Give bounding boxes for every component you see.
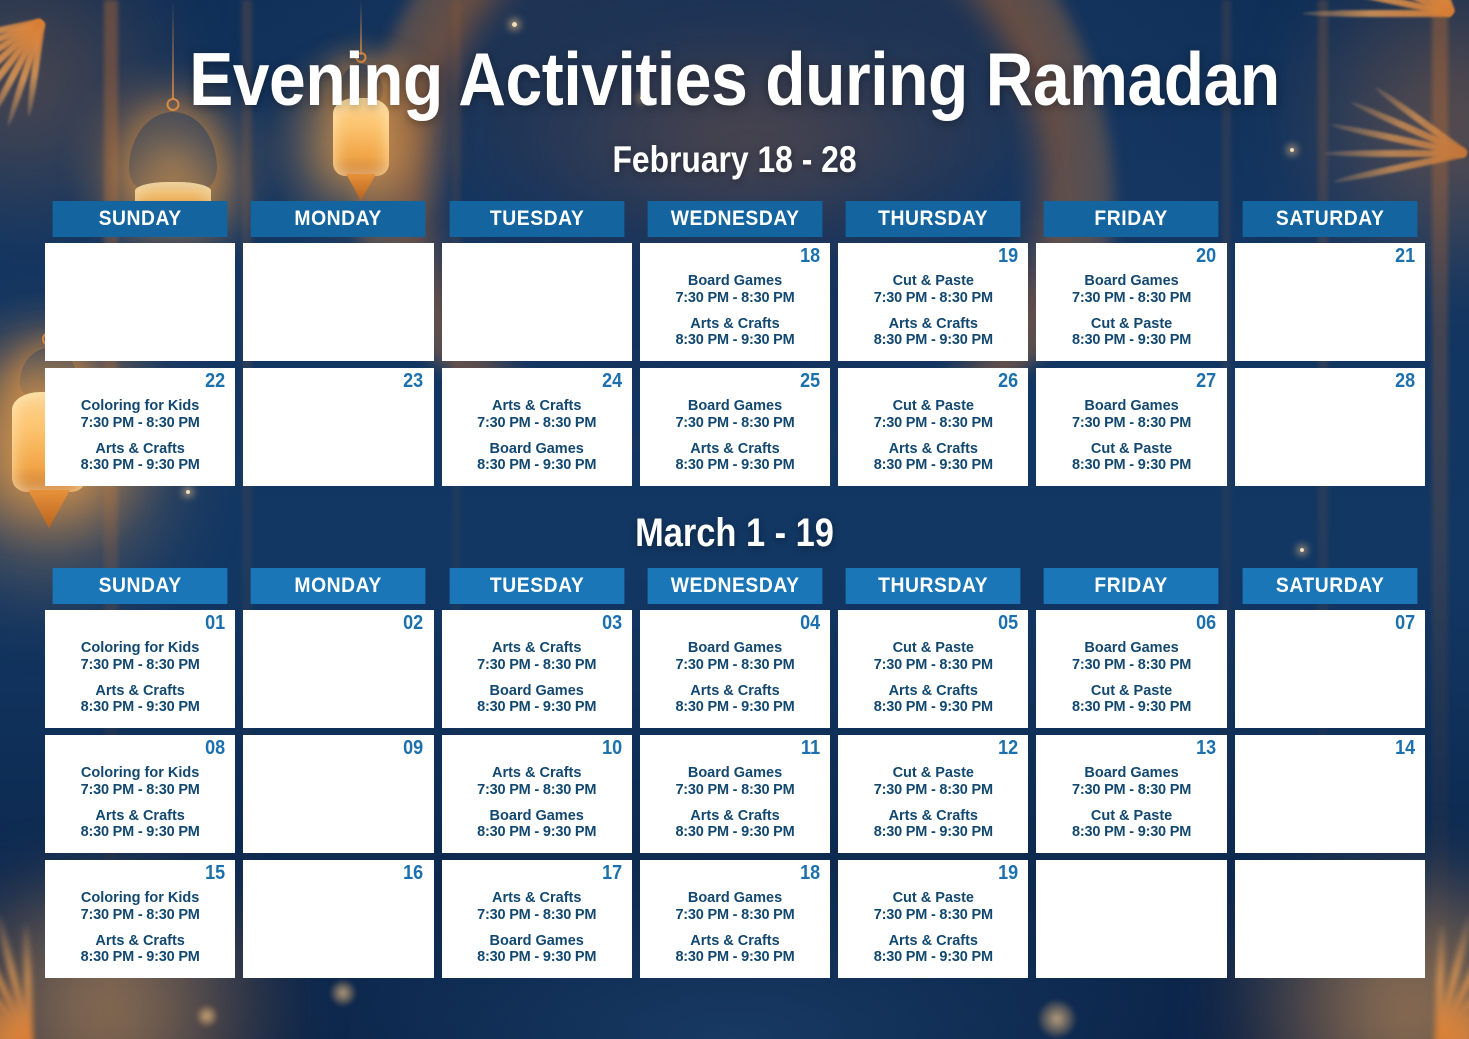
event-time: 8:30 PM - 9:30 PM <box>648 457 822 474</box>
event-time: 7:30 PM - 8:30 PM <box>1044 415 1218 432</box>
event-name: Board Games <box>450 683 624 700</box>
day-number: 20 <box>1197 246 1217 266</box>
weekday-header-row-february: SUNDAYMONDAYTUESDAYWEDNESDAYTHURSDAYFRID… <box>45 201 1425 237</box>
event-time: 7:30 PM - 8:30 PM <box>53 657 227 674</box>
event-time: 7:30 PM - 8:30 PM <box>846 907 1020 924</box>
event-name: Arts & Crafts <box>846 933 1020 950</box>
calendar-day-cell[interactable]: 07 <box>1235 610 1425 728</box>
event-entry[interactable]: Board Games8:30 PM - 9:30 PM <box>450 933 624 967</box>
day-events: Board Games7:30 PM - 8:30 PMCut & Paste8… <box>1044 273 1218 349</box>
calendar-day-cell[interactable]: 19Cut & Paste7:30 PM - 8:30 PMArts & Cra… <box>838 860 1028 978</box>
event-name: Arts & Crafts <box>648 316 822 333</box>
day-events: Coloring for Kids7:30 PM - 8:30 PMArts &… <box>53 398 227 474</box>
calendar-week-row: 18Board Games7:30 PM - 8:30 PMArts & Cra… <box>45 243 1425 361</box>
day-events: Board Games7:30 PM - 8:30 PMCut & Paste8… <box>1044 398 1218 474</box>
calendar-day-cell[interactable]: 18Board Games7:30 PM - 8:30 PMArts & Cra… <box>640 860 830 978</box>
event-entry[interactable]: Board Games7:30 PM - 8:30 PM <box>648 273 822 307</box>
event-entry[interactable]: Arts & Crafts8:30 PM - 9:30 PM <box>648 683 822 717</box>
day-events: Cut & Paste7:30 PM - 8:30 PMArts & Craft… <box>846 398 1020 474</box>
event-entry[interactable]: Board Games7:30 PM - 8:30 PM <box>1044 273 1218 307</box>
calendar-day-cell[interactable] <box>45 243 235 361</box>
event-time: 8:30 PM - 9:30 PM <box>450 699 624 716</box>
event-entry[interactable]: Board Games7:30 PM - 8:30 PM <box>1044 640 1218 674</box>
event-time: 7:30 PM - 8:30 PM <box>648 907 822 924</box>
day-number: 21 <box>1395 246 1415 266</box>
event-time: 8:30 PM - 9:30 PM <box>846 332 1020 349</box>
calendar-day-cell[interactable]: 26Cut & Paste7:30 PM - 8:30 PMArts & Cra… <box>838 368 1028 486</box>
event-name: Arts & Crafts <box>648 808 822 825</box>
event-entry[interactable]: Cut & Paste8:30 PM - 9:30 PM <box>1044 441 1218 475</box>
weekday-header-wednesday: WEDNESDAY <box>647 568 822 604</box>
event-time: 7:30 PM - 8:30 PM <box>1044 290 1218 307</box>
event-name: Coloring for Kids <box>53 640 227 657</box>
event-entry[interactable]: Cut & Paste7:30 PM - 8:30 PM <box>846 890 1020 924</box>
weekday-header-tuesday: TUESDAY <box>449 201 624 237</box>
event-name: Arts & Crafts <box>53 808 227 825</box>
event-name: Arts & Crafts <box>648 441 822 458</box>
event-time: 7:30 PM - 8:30 PM <box>53 782 227 799</box>
event-time: 8:30 PM - 9:30 PM <box>1044 332 1218 349</box>
page-title: Evening Activities during Ramadan <box>88 42 1381 117</box>
calendar-page: Evening Activities during Ramadan Februa… <box>0 0 1469 1039</box>
event-entry[interactable]: Cut & Paste8:30 PM - 9:30 PM <box>1044 683 1218 717</box>
calendar-day-cell[interactable]: 18Board Games7:30 PM - 8:30 PMArts & Cra… <box>640 243 830 361</box>
day-number: 03 <box>602 613 622 633</box>
event-time: 8:30 PM - 9:30 PM <box>648 949 822 966</box>
calendar-day-cell[interactable]: 20Board Games7:30 PM - 8:30 PMCut & Past… <box>1036 243 1226 361</box>
day-number: 06 <box>1197 613 1217 633</box>
day-events: Board Games7:30 PM - 8:30 PMArts & Craft… <box>648 273 822 349</box>
event-time: 7:30 PM - 8:30 PM <box>648 782 822 799</box>
weekday-header-friday: FRIDAY <box>1044 201 1219 237</box>
calendar-day-cell[interactable]: 25Board Games7:30 PM - 8:30 PMArts & Cra… <box>640 368 830 486</box>
day-number: 19 <box>998 863 1018 883</box>
calendar-day-cell[interactable]: 03Arts & Crafts7:30 PM - 8:30 PMBoard Ga… <box>442 610 632 728</box>
event-entry[interactable]: Arts & Crafts8:30 PM - 9:30 PM <box>53 683 227 717</box>
event-entry[interactable]: Board Games8:30 PM - 9:30 PM <box>450 441 624 475</box>
event-entry[interactable]: Arts & Crafts8:30 PM - 9:30 PM <box>648 316 822 350</box>
event-name: Arts & Crafts <box>450 640 624 657</box>
event-entry[interactable]: Arts & Crafts8:30 PM - 9:30 PM <box>53 808 227 842</box>
event-name: Cut & Paste <box>846 640 1020 657</box>
weekday-header-saturday: SATURDAY <box>1242 568 1417 604</box>
event-name: Board Games <box>648 890 822 907</box>
event-time: 8:30 PM - 9:30 PM <box>53 699 227 716</box>
event-time: 8:30 PM - 9:30 PM <box>648 699 822 716</box>
calendar-day-cell[interactable]: 05Cut & Paste7:30 PM - 8:30 PMArts & Cra… <box>838 610 1028 728</box>
event-entry[interactable]: Board Games7:30 PM - 8:30 PM <box>648 890 822 924</box>
day-events: Cut & Paste7:30 PM - 8:30 PMArts & Craft… <box>846 765 1020 841</box>
day-events: Board Games7:30 PM - 8:30 PMArts & Craft… <box>648 765 822 841</box>
calendar-day-cell[interactable]: 15Coloring for Kids7:30 PM - 8:30 PMArts… <box>45 860 235 978</box>
calendar-day-cell[interactable]: 13Board Games7:30 PM - 8:30 PMCut & Past… <box>1036 735 1226 853</box>
calendar-day-cell[interactable]: 16 <box>243 860 433 978</box>
day-number: 26 <box>998 371 1018 391</box>
day-number: 17 <box>602 863 622 883</box>
calendar-day-cell[interactable]: 22Coloring for Kids7:30 PM - 8:30 PMArts… <box>45 368 235 486</box>
day-number: 24 <box>602 371 622 391</box>
event-time: 8:30 PM - 9:30 PM <box>450 457 624 474</box>
day-number: 13 <box>1197 738 1217 758</box>
day-events: Board Games7:30 PM - 8:30 PMCut & Paste8… <box>1044 765 1218 841</box>
event-name: Cut & Paste <box>1044 441 1218 458</box>
event-name: Cut & Paste <box>1044 316 1218 333</box>
event-entry[interactable]: Arts & Crafts8:30 PM - 9:30 PM <box>53 933 227 967</box>
day-number: 15 <box>205 863 225 883</box>
day-number: 14 <box>1395 738 1415 758</box>
calendar-day-cell[interactable]: 06Board Games7:30 PM - 8:30 PMCut & Past… <box>1036 610 1226 728</box>
calendar-day-cell[interactable]: 08Coloring for Kids7:30 PM - 8:30 PMArts… <box>45 735 235 853</box>
day-number: 25 <box>800 371 820 391</box>
calendar-day-cell[interactable]: 09 <box>243 735 433 853</box>
event-name: Arts & Crafts <box>648 933 822 950</box>
day-events: Board Games7:30 PM - 8:30 PMArts & Craft… <box>648 890 822 966</box>
event-time: 8:30 PM - 9:30 PM <box>846 699 1020 716</box>
calendar-day-cell[interactable] <box>442 243 632 361</box>
weekday-header-tuesday: TUESDAY <box>449 568 624 604</box>
event-entry[interactable]: Cut & Paste7:30 PM - 8:30 PM <box>846 640 1020 674</box>
event-time: 7:30 PM - 8:30 PM <box>1044 657 1218 674</box>
event-entry[interactable]: Arts & Crafts8:30 PM - 9:30 PM <box>648 933 822 967</box>
event-entry[interactable]: Coloring for Kids7:30 PM - 8:30 PM <box>53 640 227 674</box>
day-events: Arts & Crafts7:30 PM - 8:30 PMBoard Game… <box>450 398 624 474</box>
day-events: Coloring for Kids7:30 PM - 8:30 PMArts &… <box>53 765 227 841</box>
event-name: Board Games <box>1044 765 1218 782</box>
event-time: 7:30 PM - 8:30 PM <box>1044 782 1218 799</box>
day-events: Cut & Paste7:30 PM - 8:30 PMArts & Craft… <box>846 273 1020 349</box>
event-time: 7:30 PM - 8:30 PM <box>53 907 227 924</box>
event-time: 7:30 PM - 8:30 PM <box>648 415 822 432</box>
event-name: Arts & Crafts <box>450 398 624 415</box>
event-time: 8:30 PM - 9:30 PM <box>53 949 227 966</box>
day-events: Cut & Paste7:30 PM - 8:30 PMArts & Craft… <box>846 640 1020 716</box>
event-name: Coloring for Kids <box>53 765 227 782</box>
weekday-header-thursday: THURSDAY <box>846 201 1021 237</box>
event-name: Board Games <box>648 640 822 657</box>
calendar-week-row: 01Coloring for Kids7:30 PM - 8:30 PMArts… <box>45 610 1425 728</box>
event-entry[interactable]: Cut & Paste7:30 PM - 8:30 PM <box>846 273 1020 307</box>
event-name: Arts & Crafts <box>53 441 227 458</box>
day-number: 09 <box>403 738 423 758</box>
event-name: Arts & Crafts <box>450 890 624 907</box>
calendar-day-cell[interactable]: 10Arts & Crafts7:30 PM - 8:30 PMBoard Ga… <box>442 735 632 853</box>
day-events: Cut & Paste7:30 PM - 8:30 PMArts & Craft… <box>846 890 1020 966</box>
event-time: 7:30 PM - 8:30 PM <box>846 415 1020 432</box>
calendar-day-cell[interactable]: 28 <box>1235 368 1425 486</box>
day-number: 18 <box>800 246 820 266</box>
calendar-day-cell[interactable]: 23 <box>243 368 433 486</box>
calendar-week-row: 22Coloring for Kids7:30 PM - 8:30 PMArts… <box>45 368 1425 486</box>
event-name: Cut & Paste <box>846 398 1020 415</box>
event-name: Arts & Crafts <box>53 683 227 700</box>
event-name: Arts & Crafts <box>846 316 1020 333</box>
event-entry[interactable]: Arts & Crafts8:30 PM - 9:30 PM <box>846 316 1020 350</box>
event-name: Arts & Crafts <box>846 808 1020 825</box>
event-time: 7:30 PM - 8:30 PM <box>450 907 624 924</box>
calendar-week-row: 08Coloring for Kids7:30 PM - 8:30 PMArts… <box>45 735 1425 853</box>
event-entry[interactable]: Arts & Crafts8:30 PM - 9:30 PM <box>53 441 227 475</box>
event-entry[interactable]: Arts & Crafts8:30 PM - 9:30 PM <box>648 441 822 475</box>
event-name: Board Games <box>1044 273 1218 290</box>
day-number: 22 <box>205 371 225 391</box>
event-time: 7:30 PM - 8:30 PM <box>846 782 1020 799</box>
event-name: Arts & Crafts <box>53 933 227 950</box>
event-entry[interactable]: Cut & Paste7:30 PM - 8:30 PM <box>846 765 1020 799</box>
event-time: 7:30 PM - 8:30 PM <box>450 782 624 799</box>
event-name: Board Games <box>648 273 822 290</box>
event-time: 8:30 PM - 9:30 PM <box>648 332 822 349</box>
calendar-day-cell[interactable]: 12Cut & Paste7:30 PM - 8:30 PMArts & Cra… <box>838 735 1028 853</box>
day-number: 01 <box>205 613 225 633</box>
event-entry[interactable]: Cut & Paste7:30 PM - 8:30 PM <box>846 398 1020 432</box>
calendar-day-cell[interactable]: 17Arts & Crafts7:30 PM - 8:30 PMBoard Ga… <box>442 860 632 978</box>
day-events: Board Games7:30 PM - 8:30 PMArts & Craft… <box>648 640 822 716</box>
day-number: 16 <box>403 863 423 883</box>
event-name: Cut & Paste <box>1044 683 1218 700</box>
event-time: 8:30 PM - 9:30 PM <box>1044 824 1218 841</box>
day-events: Arts & Crafts7:30 PM - 8:30 PMBoard Game… <box>450 765 624 841</box>
event-entry[interactable]: Board Games7:30 PM - 8:30 PM <box>648 765 822 799</box>
event-entry[interactable]: Arts & Crafts8:30 PM - 9:30 PM <box>648 808 822 842</box>
event-time: 8:30 PM - 9:30 PM <box>53 824 227 841</box>
event-entry[interactable]: Arts & Crafts7:30 PM - 8:30 PM <box>450 890 624 924</box>
event-name: Board Games <box>648 398 822 415</box>
day-number: 18 <box>800 863 820 883</box>
event-time: 7:30 PM - 8:30 PM <box>846 657 1020 674</box>
day-number: 23 <box>403 371 423 391</box>
event-entry[interactable]: Coloring for Kids7:30 PM - 8:30 PM <box>53 398 227 432</box>
event-entry[interactable]: Coloring for Kids7:30 PM - 8:30 PM <box>53 890 227 924</box>
day-events: Board Games7:30 PM - 8:30 PMArts & Craft… <box>648 398 822 474</box>
calendar-day-cell[interactable] <box>1235 860 1425 978</box>
event-name: Board Games <box>1044 640 1218 657</box>
day-number: 10 <box>602 738 622 758</box>
event-name: Board Games <box>450 441 624 458</box>
event-time: 8:30 PM - 9:30 PM <box>846 824 1020 841</box>
weekday-header-row-march: SUNDAYMONDAYTUESDAYWEDNESDAYTHURSDAYFRID… <box>45 568 1425 604</box>
event-time: 8:30 PM - 9:30 PM <box>1044 457 1218 474</box>
event-name: Arts & Crafts <box>450 765 624 782</box>
day-events: Arts & Crafts7:30 PM - 8:30 PMBoard Game… <box>450 640 624 716</box>
day-number: 08 <box>205 738 225 758</box>
event-time: 8:30 PM - 9:30 PM <box>648 824 822 841</box>
event-name: Board Games <box>1044 398 1218 415</box>
event-entry[interactable]: Board Games8:30 PM - 9:30 PM <box>450 808 624 842</box>
event-entry[interactable]: Board Games7:30 PM - 8:30 PM <box>648 398 822 432</box>
calendar-day-cell[interactable]: 19Cut & Paste7:30 PM - 8:30 PMArts & Cra… <box>838 243 1028 361</box>
event-name: Arts & Crafts <box>846 683 1020 700</box>
event-time: 7:30 PM - 8:30 PM <box>53 415 227 432</box>
day-number: 19 <box>998 246 1018 266</box>
calendar-week-row: 15Coloring for Kids7:30 PM - 8:30 PMArts… <box>45 860 1425 978</box>
event-entry[interactable]: Board Games8:30 PM - 9:30 PM <box>450 683 624 717</box>
event-time: 8:30 PM - 9:30 PM <box>450 949 624 966</box>
day-number: 05 <box>998 613 1018 633</box>
event-entry[interactable]: Coloring for Kids7:30 PM - 8:30 PM <box>53 765 227 799</box>
calendar-day-cell[interactable]: 21 <box>1235 243 1425 361</box>
event-entry[interactable]: Arts & Crafts8:30 PM - 9:30 PM <box>846 933 1020 967</box>
event-name: Arts & Crafts <box>648 683 822 700</box>
event-time: 7:30 PM - 8:30 PM <box>648 657 822 674</box>
calendar-day-cell[interactable]: 11Board Games7:30 PM - 8:30 PMArts & Cra… <box>640 735 830 853</box>
event-entry[interactable]: Arts & Crafts8:30 PM - 9:30 PM <box>846 441 1020 475</box>
event-name: Cut & Paste <box>1044 808 1218 825</box>
day-events: Board Games7:30 PM - 8:30 PMCut & Paste8… <box>1044 640 1218 716</box>
weekday-header-sunday: SUNDAY <box>53 201 228 237</box>
weekday-header-monday: MONDAY <box>251 568 426 604</box>
weekday-header-wednesday: WEDNESDAY <box>647 201 822 237</box>
calendar-day-cell[interactable] <box>1036 860 1226 978</box>
calendar-day-cell[interactable]: 27Board Games7:30 PM - 8:30 PMCut & Past… <box>1036 368 1226 486</box>
calendar-day-cell[interactable]: 14 <box>1235 735 1425 853</box>
event-entry[interactable]: Board Games7:30 PM - 8:30 PM <box>648 640 822 674</box>
weekday-header-monday: MONDAY <box>251 201 426 237</box>
event-time: 7:30 PM - 8:30 PM <box>450 415 624 432</box>
event-entry[interactable]: Board Games7:30 PM - 8:30 PM <box>1044 398 1218 432</box>
event-entry[interactable]: Board Games7:30 PM - 8:30 PM <box>1044 765 1218 799</box>
event-entry[interactable]: Arts & Crafts7:30 PM - 8:30 PM <box>450 640 624 674</box>
event-name: Board Games <box>648 765 822 782</box>
event-name: Board Games <box>450 808 624 825</box>
event-entry[interactable]: Cut & Paste8:30 PM - 9:30 PM <box>1044 316 1218 350</box>
event-name: Arts & Crafts <box>846 441 1020 458</box>
calendar-day-cell[interactable]: 02 <box>243 610 433 728</box>
weekday-header-friday: FRIDAY <box>1044 568 1219 604</box>
day-number: 04 <box>800 613 820 633</box>
day-number: 27 <box>1197 371 1217 391</box>
event-time: 8:30 PM - 9:30 PM <box>450 824 624 841</box>
march-range-subtitle: March 1 - 19 <box>103 511 1366 556</box>
event-time: 8:30 PM - 9:30 PM <box>846 949 1020 966</box>
weekday-header-saturday: SATURDAY <box>1242 201 1417 237</box>
event-time: 7:30 PM - 8:30 PM <box>450 657 624 674</box>
weekday-header-sunday: SUNDAY <box>53 568 228 604</box>
event-name: Board Games <box>450 933 624 950</box>
event-name: Cut & Paste <box>846 273 1020 290</box>
event-name: Cut & Paste <box>846 890 1020 907</box>
day-number: 02 <box>403 613 423 633</box>
event-entry[interactable]: Arts & Crafts7:30 PM - 8:30 PM <box>450 765 624 799</box>
event-time: 7:30 PM - 8:30 PM <box>846 290 1020 307</box>
calendar-day-cell[interactable] <box>243 243 433 361</box>
event-name: Coloring for Kids <box>53 398 227 415</box>
event-time: 8:30 PM - 9:30 PM <box>53 457 227 474</box>
event-entry[interactable]: Arts & Crafts7:30 PM - 8:30 PM <box>450 398 624 432</box>
event-entry[interactable]: Cut & Paste8:30 PM - 9:30 PM <box>1044 808 1218 842</box>
day-number: 07 <box>1395 613 1415 633</box>
day-number: 12 <box>998 738 1018 758</box>
event-entry[interactable]: Arts & Crafts8:30 PM - 9:30 PM <box>846 683 1020 717</box>
calendar-day-cell[interactable]: 24Arts & Crafts7:30 PM - 8:30 PMBoard Ga… <box>442 368 632 486</box>
day-events: Coloring for Kids7:30 PM - 8:30 PMArts &… <box>53 890 227 966</box>
february-range-subtitle: February 18 - 28 <box>103 139 1366 181</box>
event-time: 8:30 PM - 9:30 PM <box>1044 699 1218 716</box>
day-number: 11 <box>801 738 820 758</box>
weekday-header-thursday: THURSDAY <box>846 568 1021 604</box>
day-number: 28 <box>1395 371 1415 391</box>
day-events: Arts & Crafts7:30 PM - 8:30 PMBoard Game… <box>450 890 624 966</box>
calendar-day-cell[interactable]: 04Board Games7:30 PM - 8:30 PMArts & Cra… <box>640 610 830 728</box>
day-events: Coloring for Kids7:30 PM - 8:30 PMArts &… <box>53 640 227 716</box>
event-name: Cut & Paste <box>846 765 1020 782</box>
event-time: 8:30 PM - 9:30 PM <box>846 457 1020 474</box>
event-name: Coloring for Kids <box>53 890 227 907</box>
calendar-day-cell[interactable]: 01Coloring for Kids7:30 PM - 8:30 PMArts… <box>45 610 235 728</box>
event-time: 7:30 PM - 8:30 PM <box>648 290 822 307</box>
event-entry[interactable]: Arts & Crafts8:30 PM - 9:30 PM <box>846 808 1020 842</box>
